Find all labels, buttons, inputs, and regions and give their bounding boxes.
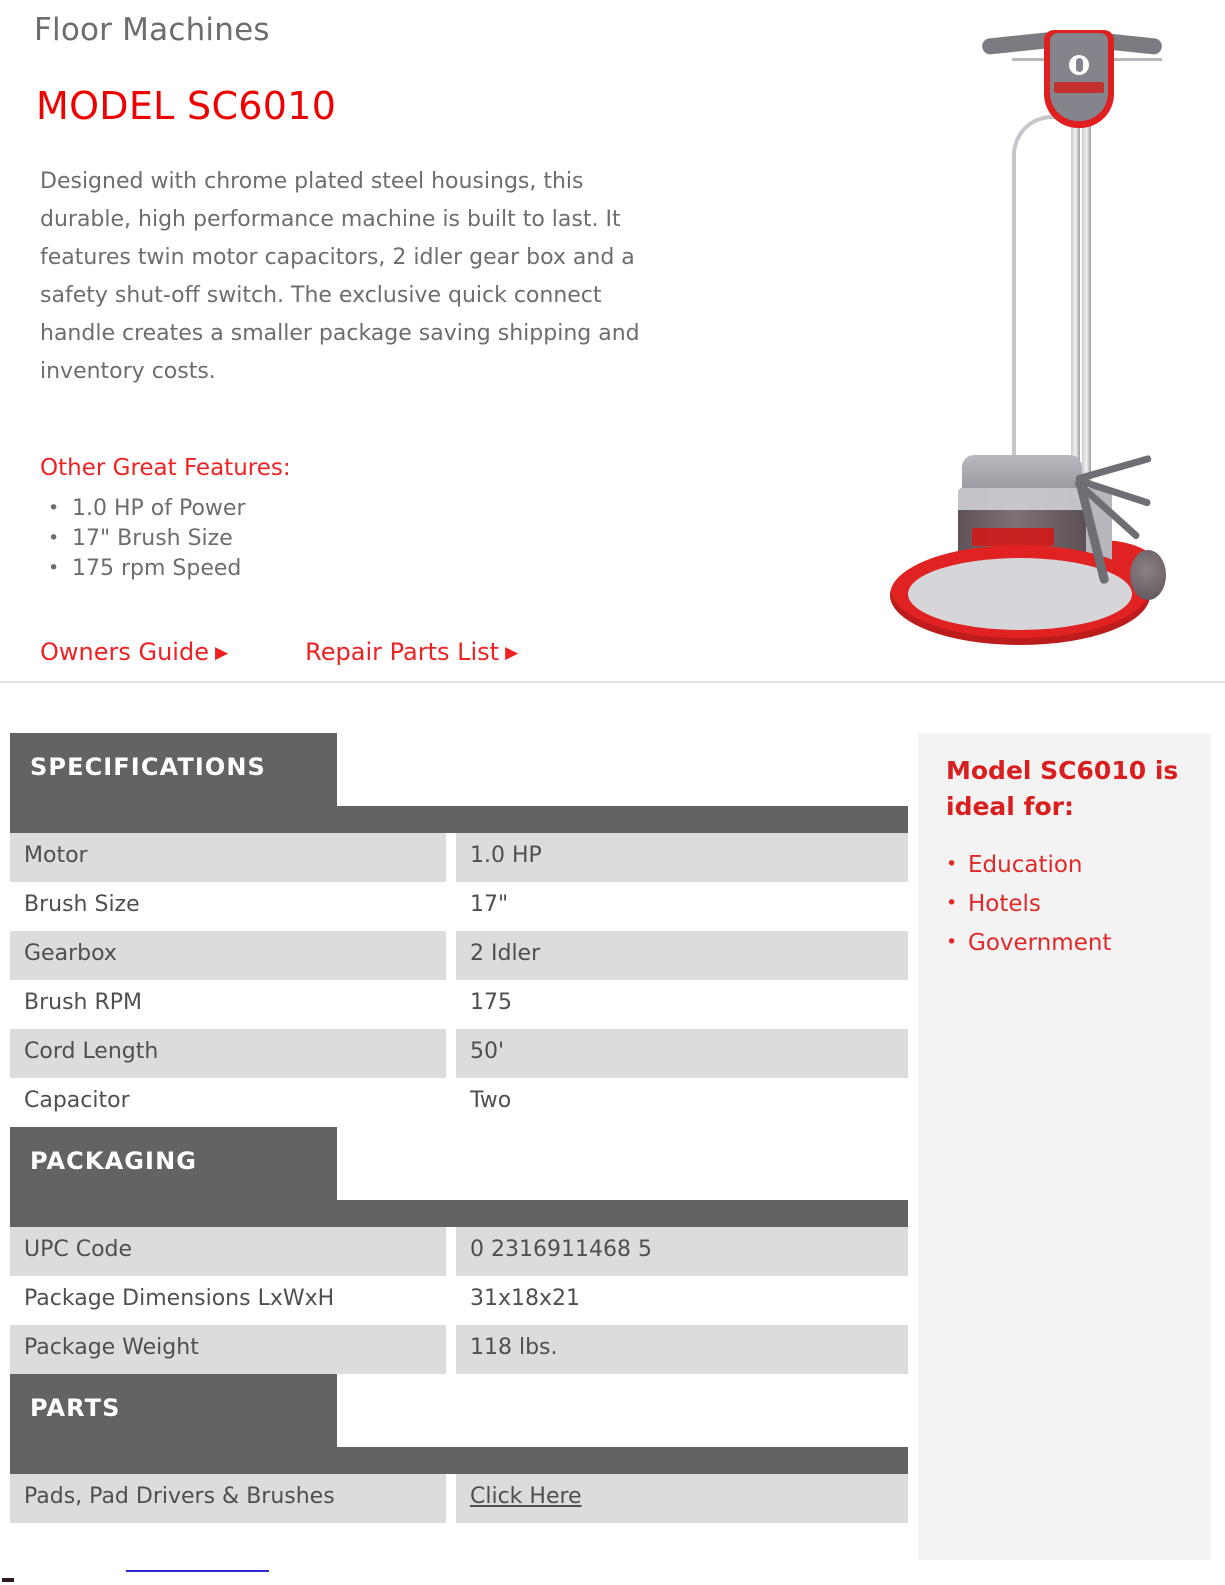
row-value: 0 2316911468 5 xyxy=(470,1237,652,1262)
list-item: Education xyxy=(946,846,1111,885)
table-row: Pads, Pad Drivers & Brushes Click Here xyxy=(0,1474,910,1523)
product-image xyxy=(862,0,1225,660)
row-key: Cord Length xyxy=(24,1039,158,1064)
handle-shaft-left xyxy=(1071,122,1080,482)
row-key-cell: Package Weight xyxy=(10,1325,446,1374)
features-list: 1.0 HP of Power 17" Brush Size 175 rpm S… xyxy=(40,494,500,584)
row-key-cell: Brush RPM xyxy=(10,980,446,1029)
packaging-table: UPC Code 0 2316911468 5 Package Dimensio… xyxy=(0,1227,910,1374)
row-value-cell: 17" xyxy=(456,882,908,931)
document-links: Owners Guide▶ Repair Parts List▶ xyxy=(40,638,518,666)
table-row: Cord Length 50' xyxy=(0,1029,910,1078)
row-key-cell: Motor xyxy=(10,833,446,882)
row-value: 31x18x21 xyxy=(470,1286,580,1311)
row-value: 1.0 HP xyxy=(470,843,542,868)
click-here-link[interactable]: Click Here xyxy=(470,1484,582,1509)
list-item: Government xyxy=(946,924,1111,963)
row-key: Brush RPM xyxy=(24,990,142,1015)
row-value-cell: 50' xyxy=(456,1029,908,1078)
section-bar xyxy=(10,1200,908,1227)
repair-parts-list-link[interactable]: Repair Parts List▶ xyxy=(305,638,518,666)
hero-section: Floor Machines MODEL SC6010 Designed wit… xyxy=(0,0,1225,683)
row-value: 118 lbs. xyxy=(470,1335,558,1360)
row-value: 175 xyxy=(470,990,512,1015)
list-item: Hotels xyxy=(946,885,1111,924)
row-value-cell: 2 Idler xyxy=(456,931,908,980)
table-row: UPC Code 0 2316911468 5 xyxy=(0,1227,910,1276)
table-row: Brush RPM 175 xyxy=(0,980,910,1029)
row-value-cell: Two xyxy=(456,1078,908,1127)
specs-column: SPECIFICATIONS Motor 1.0 HP Brush Size 1… xyxy=(0,733,910,1523)
row-key: Package Weight xyxy=(24,1335,199,1360)
row-value-cell: 1.0 HP xyxy=(456,833,908,882)
row-key-cell: Brush Size xyxy=(10,882,446,931)
row-key-cell: Package Dimensions LxWxH xyxy=(10,1276,446,1325)
footer-marker xyxy=(2,1578,14,1582)
ideal-for-panel: Model SC6010 is ideal for: Education Hot… xyxy=(918,733,1211,1560)
row-key: Capacitor xyxy=(24,1088,130,1113)
brand-logo-icon xyxy=(1069,55,1089,75)
row-value-cell[interactable]: Click Here xyxy=(456,1474,908,1523)
row-key: Gearbox xyxy=(24,941,117,966)
row-key-cell: Capacitor xyxy=(10,1078,446,1127)
row-value-cell: 0 2316911468 5 xyxy=(456,1227,908,1276)
row-value: Two xyxy=(470,1088,511,1113)
section-title: SPECIFICATIONS xyxy=(30,753,266,781)
row-value-cell: 118 lbs. xyxy=(456,1325,908,1374)
row-value-cell: 31x18x21 xyxy=(456,1276,908,1325)
transport-wheel xyxy=(1130,550,1166,600)
list-item: 1.0 HP of Power xyxy=(40,494,500,524)
ideal-for-title: Model SC6010 is ideal for: xyxy=(946,753,1186,825)
row-key-cell: UPC Code xyxy=(10,1227,446,1276)
specifications-table: Motor 1.0 HP Brush Size 17" Gearbox 2 Id… xyxy=(0,833,910,1127)
brand-wordmark-top xyxy=(1054,82,1104,93)
row-value: 50' xyxy=(470,1039,504,1064)
row-key: Motor xyxy=(24,843,88,868)
list-item: 17" Brush Size xyxy=(40,524,500,554)
row-value: 17" xyxy=(470,892,508,917)
ideal-for-list: Education Hotels Government xyxy=(946,846,1111,963)
section-header-specifications: SPECIFICATIONS xyxy=(0,733,910,833)
section-divider xyxy=(0,681,1225,683)
control-head-face xyxy=(1050,33,1108,121)
row-value-cell: 175 xyxy=(456,980,908,1029)
features-heading: Other Great Features: xyxy=(40,455,291,481)
footer-link-underline[interactable] xyxy=(126,1570,269,1572)
section-header-parts: PARTS xyxy=(0,1374,910,1474)
section-title: PACKAGING xyxy=(30,1147,197,1175)
table-row: Gearbox 2 Idler xyxy=(0,931,910,980)
table-row: Package Dimensions LxWxH 31x18x21 xyxy=(0,1276,910,1325)
category-label: Floor Machines xyxy=(34,12,270,48)
brand-wordmark-body xyxy=(972,528,1054,546)
repair-parts-list-label: Repair Parts List xyxy=(305,638,499,666)
table-row: Package Weight 118 lbs. xyxy=(0,1325,910,1374)
motor-highlight xyxy=(958,488,1086,510)
section-bar xyxy=(10,806,908,833)
caret-right-icon: ▶ xyxy=(215,643,228,663)
caret-right-icon: ▶ xyxy=(505,643,518,663)
row-key-cell: Gearbox xyxy=(10,931,446,980)
table-row: Brush Size 17" xyxy=(0,882,910,931)
row-value: 2 Idler xyxy=(470,941,540,966)
product-description: Designed with chrome plated steel housin… xyxy=(40,163,665,391)
row-key: UPC Code xyxy=(24,1237,132,1262)
row-key: Pads, Pad Drivers & Brushes xyxy=(24,1484,335,1509)
table-row: Capacitor Two xyxy=(0,1078,910,1127)
section-header-packaging: PACKAGING xyxy=(0,1127,910,1227)
parts-table: Pads, Pad Drivers & Brushes Click Here xyxy=(0,1474,910,1523)
row-key: Brush Size xyxy=(24,892,140,917)
section-title: PARTS xyxy=(30,1394,121,1422)
owners-guide-link[interactable]: Owners Guide▶ xyxy=(40,638,228,666)
section-bar xyxy=(10,1447,908,1474)
list-item: 175 rpm Speed xyxy=(40,554,500,584)
page-title: MODEL SC6010 xyxy=(36,84,336,128)
owners-guide-label: Owners Guide xyxy=(40,638,209,666)
row-key-cell: Cord Length xyxy=(10,1029,446,1078)
table-row: Motor 1.0 HP xyxy=(0,833,910,882)
row-key-cell: Pads, Pad Drivers & Brushes xyxy=(10,1474,446,1523)
row-key: Package Dimensions LxWxH xyxy=(24,1286,334,1311)
product-detail-page: Floor Machines MODEL SC6010 Designed wit… xyxy=(0,0,1225,1585)
handle-shaft-right xyxy=(1082,122,1091,482)
